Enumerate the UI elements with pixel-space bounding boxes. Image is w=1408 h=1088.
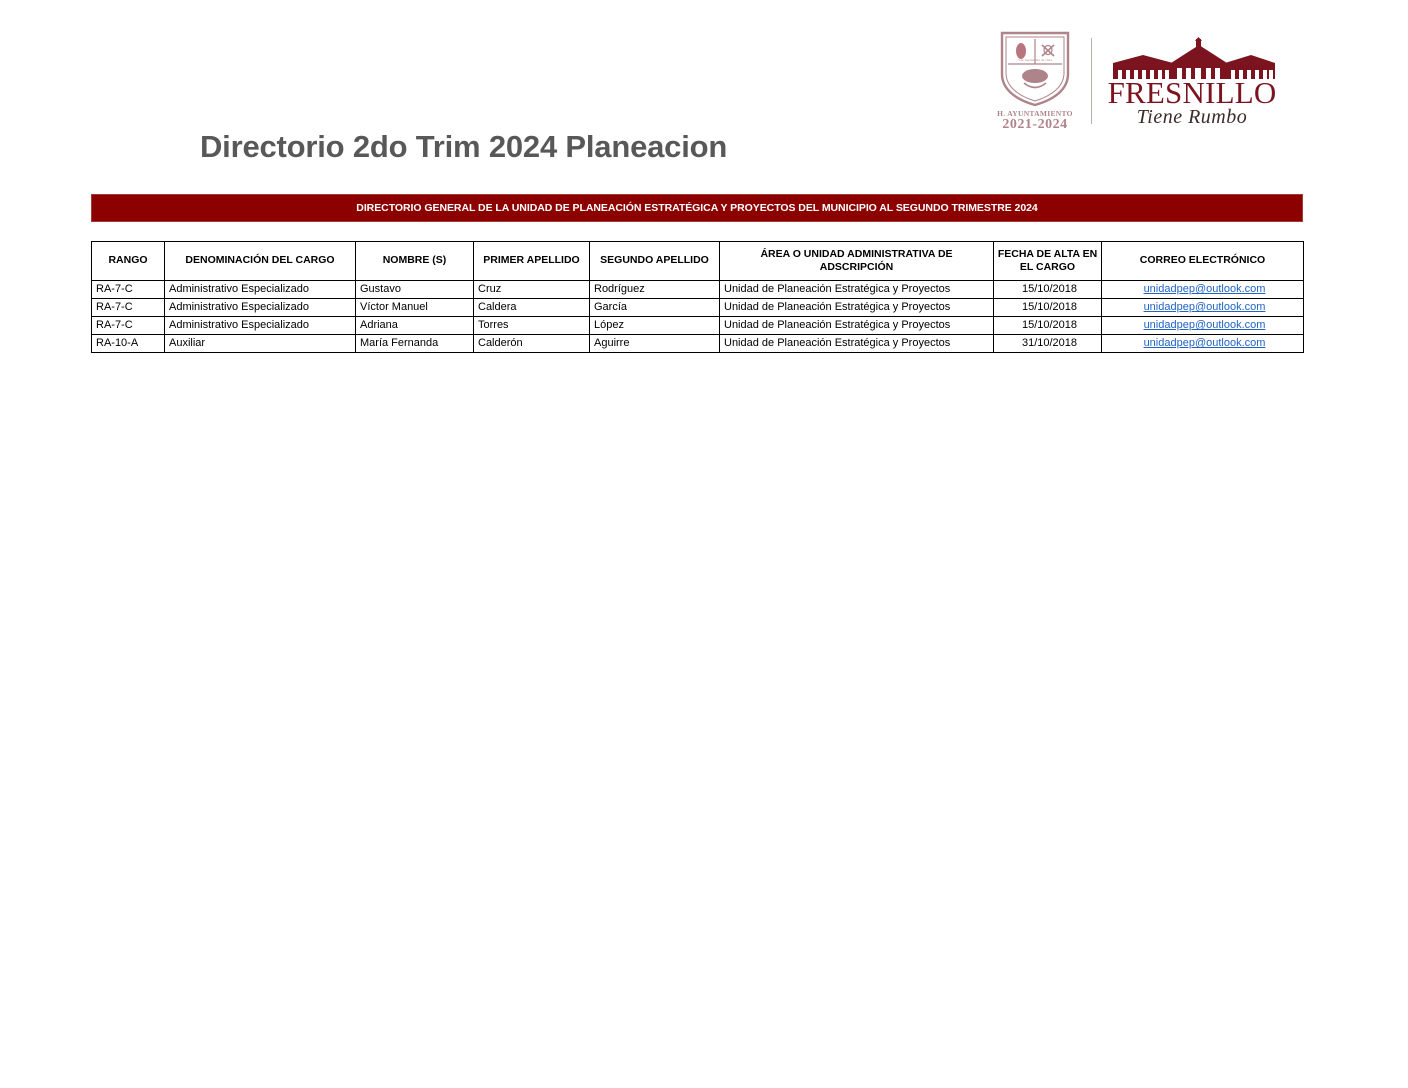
- wordmark-tagline: Tiene Rumbo: [1137, 107, 1248, 127]
- cell-rango: RA-10-A: [92, 335, 165, 353]
- cell-primer-apellido: Caldera: [474, 299, 590, 317]
- cell-correo[interactable]: unidadpep@outlook.com: [1102, 317, 1304, 335]
- cell-nombre: Adriana: [356, 317, 474, 335]
- shield-caption-years: 2021-2024: [1002, 118, 1067, 132]
- email-link[interactable]: unidadpep@outlook.com: [1144, 283, 1266, 295]
- table-row: RA-10-AAuxiliarMaría FernandaCalderónAgu…: [92, 335, 1304, 353]
- table-header-row: RANGO DENOMINACIÓN DEL CARGO NOMBRE (S) …: [92, 242, 1304, 281]
- cell-segundo-apellido: López: [590, 317, 720, 335]
- cell-segundo-apellido: Rodríguez: [590, 281, 720, 299]
- column-header-segundo-apellido: SEGUNDO APELLIDO: [590, 242, 720, 281]
- cell-area: Unidad de Planeación Estratégica y Proye…: [720, 281, 994, 299]
- email-link[interactable]: unidadpep@outlook.com: [1144, 319, 1266, 331]
- column-header-nombre: NOMBRE (S): [356, 242, 474, 281]
- directory-table: RANGO DENOMINACIÓN DEL CARGO NOMBRE (S) …: [91, 241, 1304, 353]
- cell-fecha: 15/10/2018: [994, 299, 1102, 317]
- svg-text:5 de Septiembre de 1554: 5 de Septiembre de 1554: [1018, 58, 1052, 62]
- coat-of-arms-shield: 5 de Septiembre de 1554 H. AYUNTAMIENTO …: [985, 30, 1085, 132]
- page-title: Directorio 2do Trim 2024 Planeacion: [200, 129, 727, 165]
- cell-area: Unidad de Planeación Estratégica y Proye…: [720, 335, 994, 353]
- cell-rango: RA-7-C: [92, 317, 165, 335]
- table-row: RA-7-CAdministrativo EspecializadoVíctor…: [92, 299, 1304, 317]
- cell-segundo-apellido: Aguirre: [590, 335, 720, 353]
- table-row: RA-7-CAdministrativo EspecializadoGustav…: [92, 281, 1304, 299]
- cell-correo[interactable]: unidadpep@outlook.com: [1102, 281, 1304, 299]
- column-header-fecha-alta: FECHA DE ALTA EN EL CARGO: [994, 242, 1102, 281]
- cell-correo[interactable]: unidadpep@outlook.com: [1102, 299, 1304, 317]
- email-link[interactable]: unidadpep@outlook.com: [1144, 301, 1266, 313]
- cell-nombre: Víctor Manuel: [356, 299, 474, 317]
- cell-primer-apellido: Cruz: [474, 281, 590, 299]
- cell-primer-apellido: Torres: [474, 317, 590, 335]
- email-link[interactable]: unidadpep@outlook.com: [1144, 337, 1266, 349]
- cell-primer-apellido: Calderón: [474, 335, 590, 353]
- logo-divider: [1091, 38, 1092, 124]
- cell-cargo: Administrativo Especializado: [165, 281, 356, 299]
- cell-cargo: Auxiliar: [165, 335, 356, 353]
- wordmark-main-text: FRESNILLO: [1108, 79, 1277, 108]
- table-row: RA-7-CAdministrativo EspecializadoAdrian…: [92, 317, 1304, 335]
- column-header-cargo: DENOMINACIÓN DEL CARGO: [165, 242, 356, 281]
- cell-area: Unidad de Planeación Estratégica y Proye…: [720, 317, 994, 335]
- column-header-rango: RANGO: [92, 242, 165, 281]
- cell-rango: RA-7-C: [92, 281, 165, 299]
- shield-icon: 5 de Septiembre de 1554: [998, 30, 1072, 108]
- directory-banner: DIRECTORIO GENERAL DE LA UNIDAD DE PLANE…: [91, 194, 1303, 222]
- cell-fecha: 31/10/2018: [994, 335, 1102, 353]
- cell-correo[interactable]: unidadpep@outlook.com: [1102, 335, 1304, 353]
- fresnillo-wordmark: FRESNILLO Tiene Rumbo: [1103, 37, 1281, 127]
- cell-area: Unidad de Planeación Estratégica y Proye…: [720, 299, 994, 317]
- cell-fecha: 15/10/2018: [994, 317, 1102, 335]
- column-header-correo: CORREO ELECTRÓNICO: [1102, 242, 1304, 281]
- cell-rango: RA-7-C: [92, 299, 165, 317]
- municipal-logo: 5 de Septiembre de 1554 H. AYUNTAMIENTO …: [985, 22, 1295, 140]
- cell-nombre: Gustavo: [356, 281, 474, 299]
- cell-fecha: 15/10/2018: [994, 281, 1102, 299]
- cell-cargo: Administrativo Especializado: [165, 299, 356, 317]
- cell-nombre: María Fernanda: [356, 335, 474, 353]
- cell-segundo-apellido: García: [590, 299, 720, 317]
- column-header-primer-apellido: PRIMER APELLIDO: [474, 242, 590, 281]
- cell-cargo: Administrativo Especializado: [165, 317, 356, 335]
- column-header-area: ÁREA O UNIDAD ADMINISTRATIVA DE ADSCRIPC…: [720, 242, 994, 281]
- banner-title: DIRECTORIO GENERAL DE LA UNIDAD DE PLANE…: [356, 202, 1037, 214]
